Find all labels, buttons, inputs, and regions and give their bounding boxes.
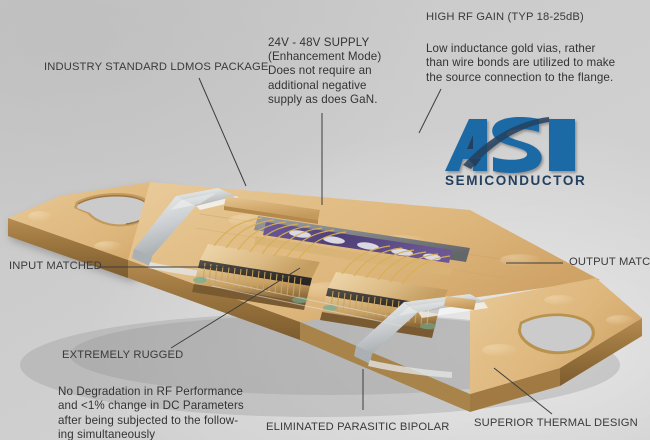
leader-gold-vias (419, 89, 441, 133)
callout-extremely-rugged: EXTREMELY RUGGED (62, 350, 183, 361)
callout-supply-body: (Enhancement Mode) Does not require an a… (268, 50, 381, 108)
logo-mark (445, 117, 575, 173)
callout-output-matched: OUTPUT MATCHED (569, 257, 650, 268)
asi-semiconductor-logo: SEMICONDUCTOR (443, 113, 603, 189)
callout-gold-vias: Low inductance gold vias, rather than wi… (426, 42, 615, 85)
callout-rugged-body: No Degradation in RF Performance and <1%… (58, 385, 244, 440)
callout-industry-standard: INDUSTRY STANDARD LDMOS PACKAGE (44, 62, 269, 73)
callout-input-matched: INPUT MATCHED (9, 261, 102, 272)
illustration-canvas: SEMICONDUCTOR INDUSTRY STANDARD LDMOS PA… (0, 0, 650, 440)
callout-eliminated-parasitic: ELIMINATED PARASITIC BIPOLAR (266, 422, 449, 433)
logo-tagline: SEMICONDUCTOR (445, 173, 586, 188)
callout-supply-heading: 24V - 48V SUPPLY (268, 36, 369, 50)
callout-high-rf-gain: HIGH RF GAIN (TYP 18-25dB) (426, 12, 584, 23)
callout-superior-thermal: SUPERIOR THERMAL DESIGN (474, 418, 638, 429)
